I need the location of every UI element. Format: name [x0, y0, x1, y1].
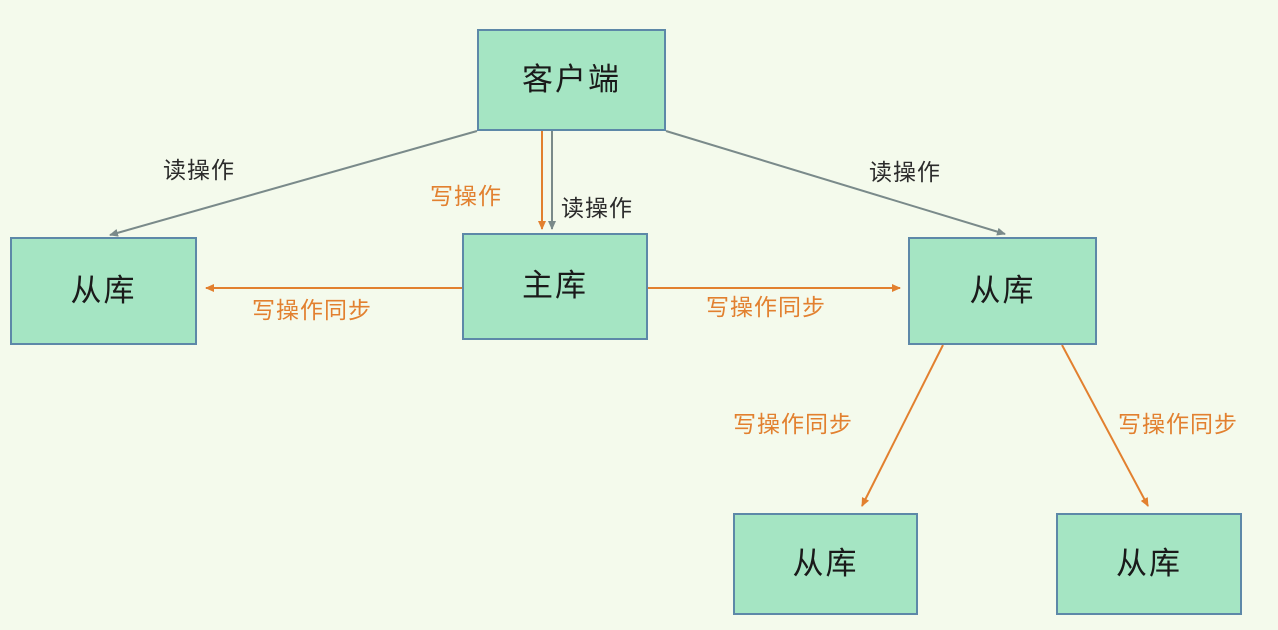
node-slave-left-label: 从库 [71, 276, 137, 307]
node-slave-bottom-right-label: 从库 [1116, 549, 1182, 580]
edge-label-client-to-master-write: 写操作 [430, 186, 502, 209]
node-master-label: 主库 [522, 271, 588, 302]
edge-label-slave-right-to-bottom-left: 写操作同步 [733, 414, 853, 437]
node-slave-bottom-left[interactable]: 从库 [733, 513, 918, 615]
edge-label-slave-right-to-bottom-right: 写操作同步 [1118, 414, 1238, 437]
edge-label-client-to-master-read: 读操作 [561, 198, 633, 221]
edge-label-client-to-slave-right: 读操作 [869, 162, 941, 185]
node-slave-left[interactable]: 从库 [10, 237, 197, 345]
node-slave-bottom-left-label: 从库 [793, 549, 859, 580]
diagram-canvas: 客户端 从库 主库 从库 从库 从库 读操作 写操作 读操作 读操作 写操作同步… [0, 0, 1278, 630]
node-client-label: 客户端 [522, 65, 621, 96]
edge-slave-right-to-bottom-left [862, 345, 943, 506]
edge-label-master-to-slave-left: 写操作同步 [252, 300, 372, 323]
node-slave-right[interactable]: 从库 [908, 237, 1097, 345]
node-slave-right-label: 从库 [970, 276, 1036, 307]
node-client[interactable]: 客户端 [477, 29, 666, 131]
edge-client-to-slave-right [666, 131, 1005, 234]
edge-label-master-to-slave-right: 写操作同步 [706, 297, 826, 320]
edge-label-client-to-slave-left: 读操作 [163, 160, 235, 183]
node-master[interactable]: 主库 [462, 233, 648, 340]
node-slave-bottom-right[interactable]: 从库 [1056, 513, 1242, 615]
